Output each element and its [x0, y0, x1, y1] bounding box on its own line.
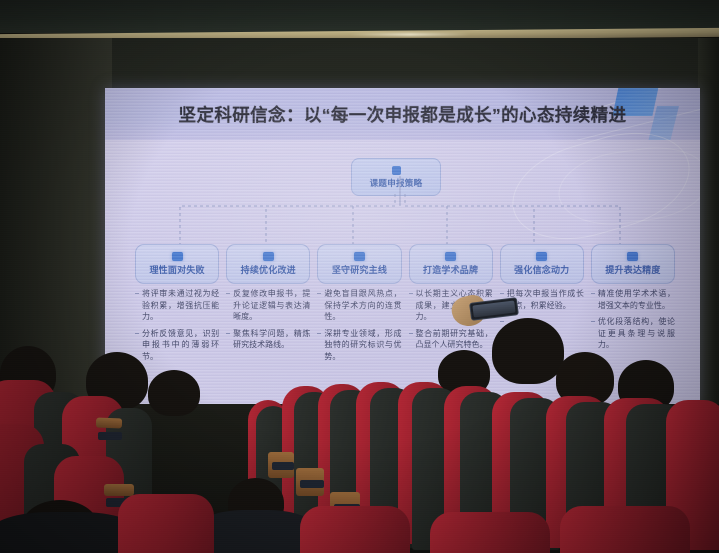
- audience-head: [148, 370, 200, 416]
- branch-text-col-2: 避免盲目跟风热点，保持学术方向的连贯性。 深耕专业领域，形成独特的研究标识与优势…: [317, 288, 401, 352]
- branch-label-2: 坚守研究主线: [332, 263, 387, 276]
- armrest-tablet: [272, 462, 294, 470]
- branch-chip-0: 理性面对失败: [135, 244, 219, 284]
- audience-shoulders: [196, 510, 316, 553]
- branch-para-5-1: 优化段落结构，使论证更具条理与说服力。: [598, 316, 675, 351]
- trim-light-glint: [350, 33, 470, 36]
- branch-label-4: 强化信念动力: [514, 263, 569, 276]
- branch-chip-3: 打造学术品牌: [409, 244, 493, 284]
- projection-screen: 坚定科研信念：以“每一次申报都是成长”的心态持续精进 课题申报策略: [105, 88, 700, 406]
- grid-icon: [392, 166, 401, 175]
- branch-para-1-1: 聚焦科学问题，精炼研究技术路线。: [233, 328, 310, 351]
- shield-icon: [172, 252, 183, 261]
- armrest-tablet: [300, 480, 324, 488]
- seat-back-foreground: [430, 512, 550, 553]
- branch-chip-1: 持续优化改进: [226, 244, 310, 284]
- armrest-tablet: [98, 432, 122, 440]
- branch-label-1: 持续优化改进: [241, 263, 296, 276]
- slide-title: 坚定科研信念：以“每一次申报都是成长”的心态持续精进: [105, 88, 700, 140]
- mindmap-branch-chips: 理性面对失败 持续优化改进 坚守研究主线 打造学术品牌 强化信念动力 提升表达精…: [135, 244, 675, 284]
- branch-para-1-0: 反复修改申报书，提升论证逻辑与表达清晰度。: [233, 288, 310, 323]
- branch-text-col-1: 反复修改申报书，提升论证逻辑与表达清晰度。 聚焦科学问题，精炼研究技术路线。: [226, 288, 310, 352]
- branch-para-2-1: 深耕专业领域，形成独特的研究标识与优势。: [324, 328, 401, 363]
- mindmap-root-node: 课题申报策略: [351, 158, 441, 196]
- branch-chip-4: 强化信念动力: [500, 244, 584, 284]
- branch-para-4-0: 把每次申报当作成长节点，积累经验。: [507, 288, 584, 311]
- seat-back-foreground: [300, 506, 410, 553]
- seat-back-foreground: [118, 494, 214, 553]
- list-icon: [445, 252, 456, 261]
- wall-right-shadow: [698, 38, 719, 418]
- branch-text-col-5: 精准使用学术术语，增强文本的专业性。 优化段落结构，使论证更具条理与说服力。: [591, 288, 675, 352]
- branch-para-0-0: 将评审未通过视为经验积累，增强抗压能力。: [142, 288, 219, 323]
- seat-back-foreground: [560, 506, 690, 553]
- branch-para-5-0: 精准使用学术术语，增强文本的专业性。: [598, 288, 675, 311]
- photo-scene: 坚定科研信念：以“每一次申报都是成长”的心态持续精进 课题申报策略: [0, 0, 719, 553]
- branch-label-5: 提升表达精度: [605, 263, 660, 276]
- book-icon: [263, 252, 274, 261]
- phone-screen: [472, 300, 515, 317]
- branch-para-2-0: 避免盲目跟风热点，保持学术方向的连贯性。: [324, 288, 401, 323]
- card-icon: [627, 252, 638, 261]
- branch-label-0: 理性面对失败: [149, 263, 204, 276]
- audience-head: [492, 318, 564, 384]
- branch-label-3: 打造学术品牌: [423, 263, 478, 276]
- branch-para-0-1: 分析反馈意见，识别申报书中的薄弱环节。: [142, 328, 219, 363]
- seat-armrest: [96, 418, 122, 429]
- seat-armrest: [104, 484, 134, 496]
- layers-icon: [354, 252, 365, 261]
- branch-para-3-1: 整合前期研究基础，凸显个人研究特色。: [416, 328, 493, 351]
- branch-chip-5: 提升表达精度: [591, 244, 675, 284]
- mindmap-branch-texts: 将评审未通过视为经验积累，增强抗压能力。 分析反馈意见，识别申报书中的薄弱环节。…: [135, 288, 675, 352]
- mindmap-root-label: 课题申报策略: [370, 177, 423, 189]
- branch-chip-2: 坚守研究主线: [317, 244, 401, 284]
- branch-text-col-0: 将评审未通过视为经验积累，增强抗压能力。 分析反馈意见，识别申报书中的薄弱环节。: [135, 288, 219, 352]
- flag-icon: [536, 252, 547, 261]
